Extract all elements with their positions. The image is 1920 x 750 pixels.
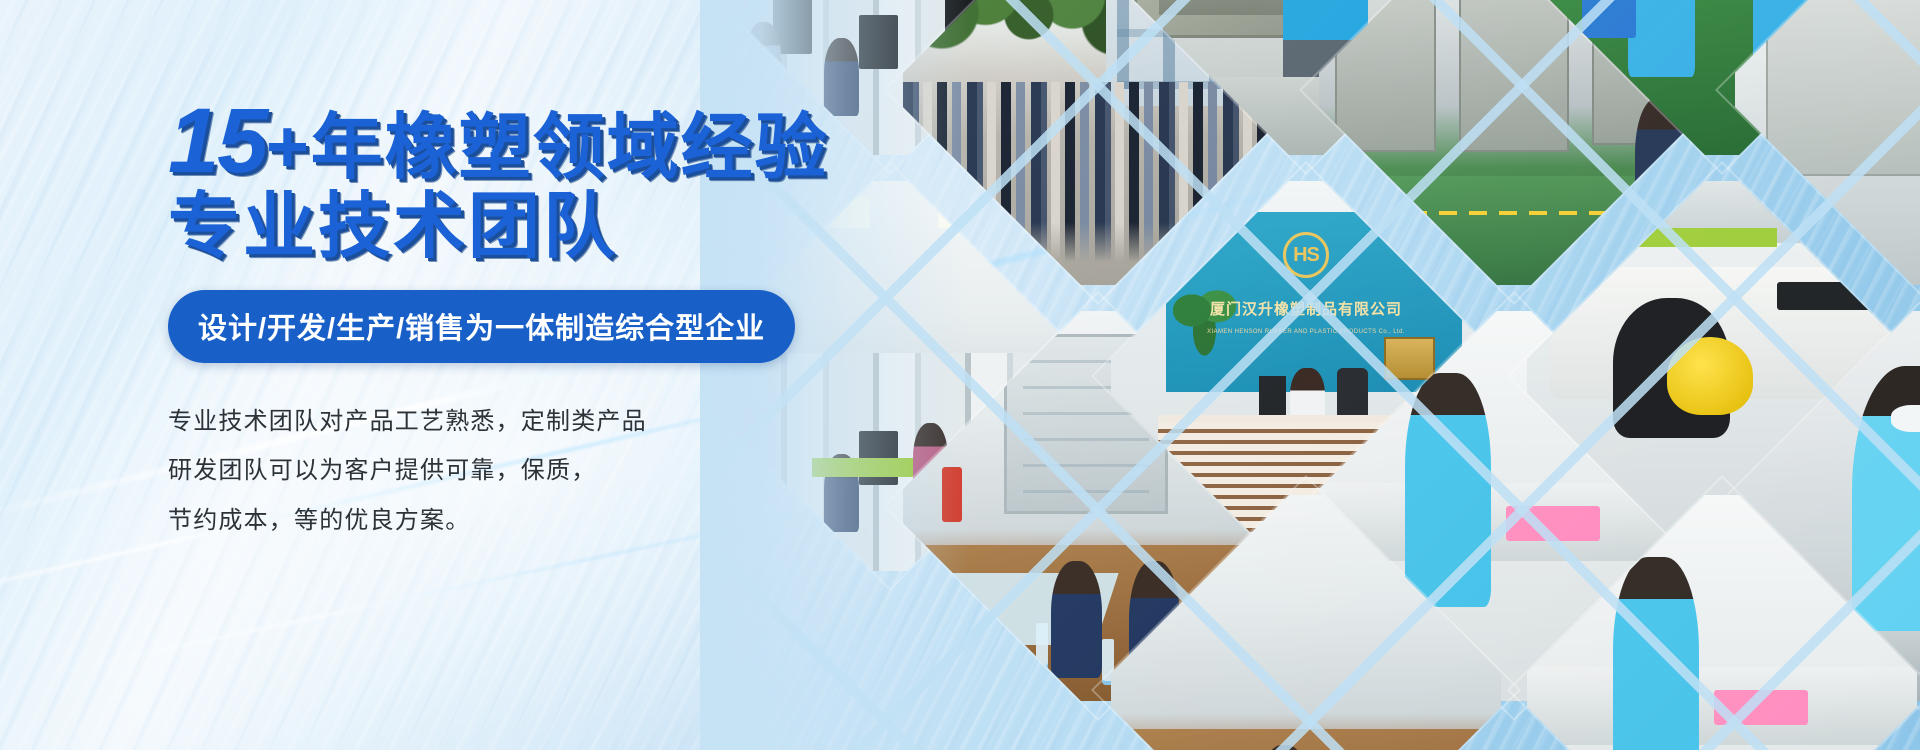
description-line-2: 研发团队可以为客户提供可靠，保质， [168, 446, 928, 495]
company-name-en: XIAMEN HENSON RUBBER AND PLASTIC PRODUCT… [1207, 329, 1405, 335]
headline-line-2: 专业技术团队 [168, 191, 928, 264]
headline-line-1-text: 年橡塑领域经验 [311, 108, 829, 188]
hero-banner: HS 厦门汉升橡塑制品有限公司 XIAMEN HENSON RUBBER AND… [0, 0, 1920, 750]
hero-content: 15+年橡塑领域经验 专业技术团队 设计/开发/生产/销售为一体制造综合型企业 … [168, 95, 928, 545]
plus-symbol: + [264, 105, 308, 188]
years-number: 15 [168, 90, 266, 192]
headline-line-1: 15+年橡塑领域经验 [168, 95, 928, 189]
description-paragraph: 专业技术团队对产品工艺熟悉，定制类产品 研发团队可以为客户提供可靠，保质， 节约… [168, 397, 928, 545]
services-badge: 设计/开发/生产/销售为一体制造综合型企业 [168, 290, 795, 363]
description-line-3: 节约成本，等的优良方案。 [168, 496, 928, 545]
company-logo-icon: HS [1283, 232, 1329, 278]
description-line-1: 专业技术团队对产品工艺熟悉，定制类产品 [168, 397, 928, 446]
company-name-cn: 厦门汉升橡塑制品有限公司 [1210, 298, 1402, 319]
